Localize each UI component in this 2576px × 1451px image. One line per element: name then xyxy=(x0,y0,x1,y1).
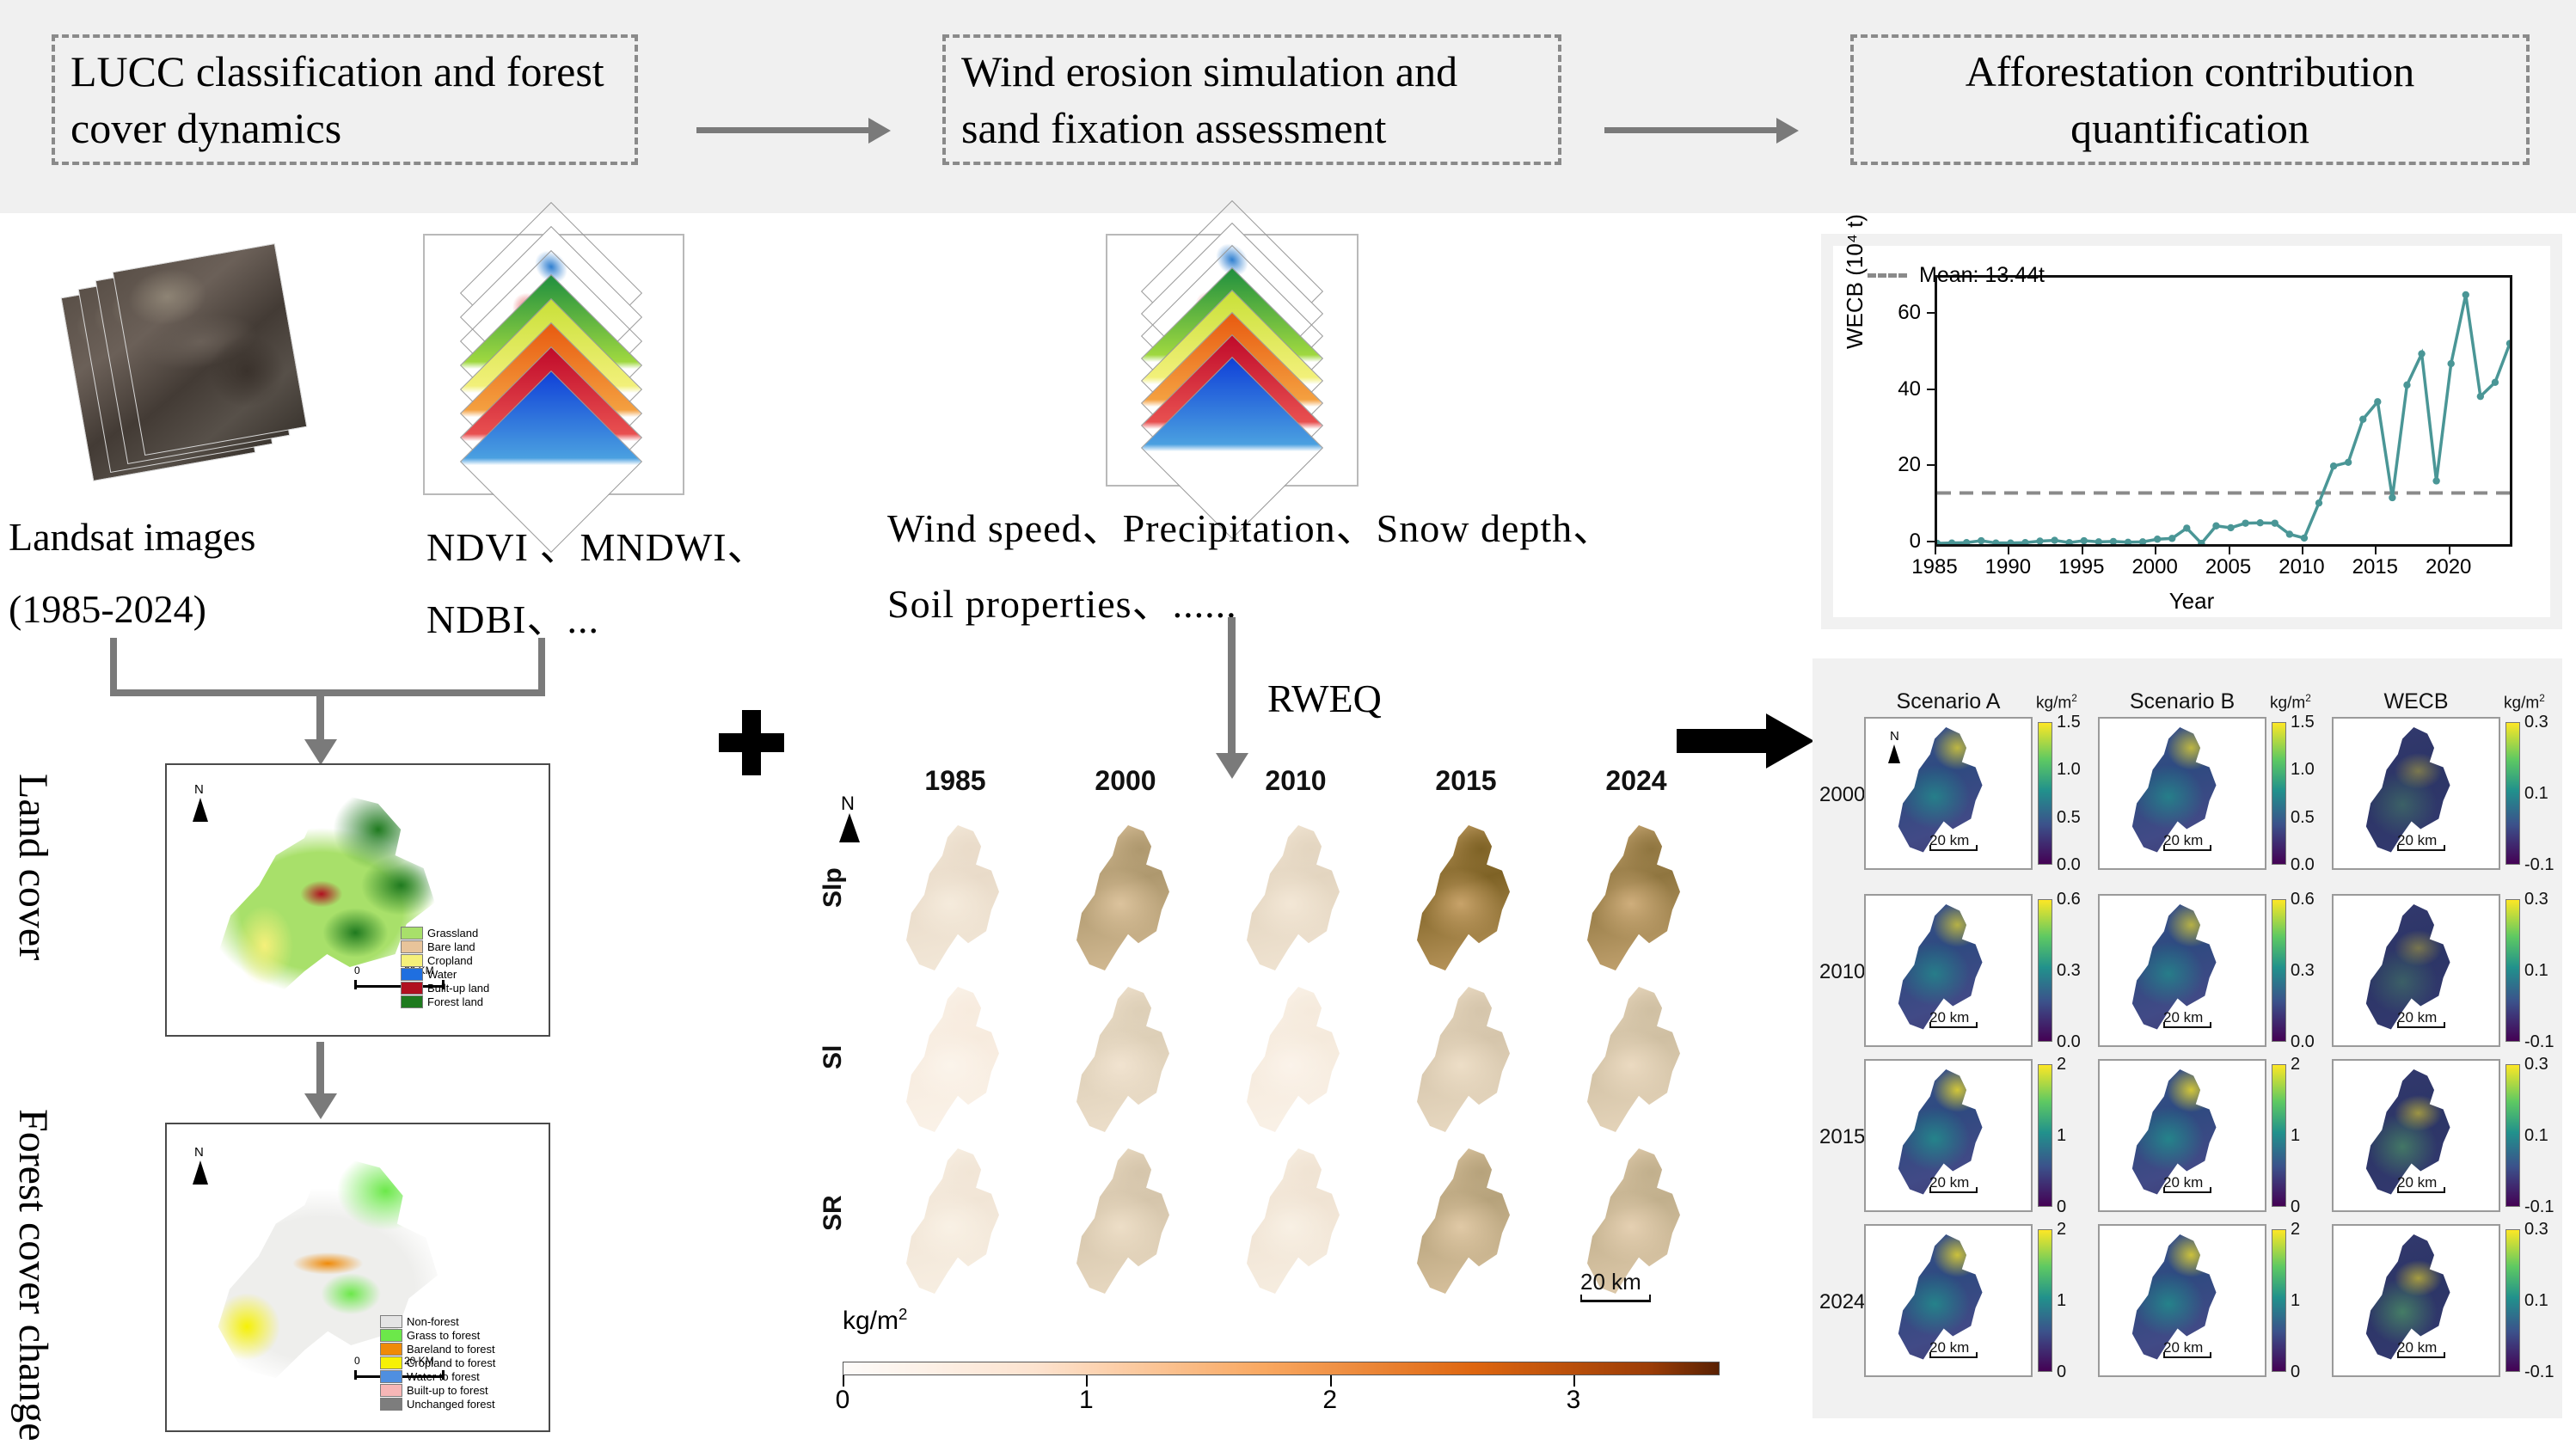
colorbar-tick-label: 0.1 xyxy=(2524,1291,2548,1311)
year-header: 2010 xyxy=(1223,765,1369,797)
colorbar-tick-label: 1 xyxy=(2291,1291,2300,1311)
x-tick-label: 2020 xyxy=(2426,555,2471,579)
legend-label: Water to forest xyxy=(407,1370,480,1383)
colorbar-tick-label: 0 xyxy=(2291,1197,2300,1217)
legend-label: Non-forest xyxy=(407,1315,459,1328)
scenario-map-scenario-a-2000: N20 km xyxy=(1864,717,2033,870)
vertical-colorbar xyxy=(2272,1064,2286,1207)
erosion-map-sl-1985 xyxy=(891,987,1020,1138)
scenario-column-header: WECB xyxy=(2332,689,2500,714)
x-tick-label: 2015 xyxy=(2352,555,2398,579)
forest-change-legend: Non-forestGrass to forestBareland to for… xyxy=(380,1315,495,1411)
spectral-index-layer-stack xyxy=(423,234,684,495)
colorbar-tick-label: 0 xyxy=(836,1386,850,1415)
land-cover-legend: GrasslandBare landCroplandWaterBuilt-up … xyxy=(401,927,489,1009)
scale-bar: 20 km xyxy=(2163,832,2203,849)
scenario-row-label: 2010 xyxy=(1819,960,1865,984)
colorbar-tick-label: 0.6 xyxy=(2291,890,2315,909)
erosion-colorbar: 0123 xyxy=(843,1355,1720,1384)
scenario-column-header: Scenario A xyxy=(1864,689,2033,714)
scale-label: 20 km xyxy=(1929,832,1969,848)
stage-box-wind-erosion: Wind erosion simulation and sand fixatio… xyxy=(942,34,1561,165)
erosion-map-sr-1985 xyxy=(891,1148,1020,1300)
colorbar-tick-label: 1 xyxy=(2057,1291,2066,1311)
colorbar-tick-label: 0.1 xyxy=(2524,1126,2548,1146)
scenario-map-wecb-2024: 20 km xyxy=(2332,1224,2500,1377)
scenario-map-wecb-2015: 20 km xyxy=(2332,1059,2500,1212)
y-tick xyxy=(1927,312,1935,314)
land-cover-title: Land cover xyxy=(9,774,57,960)
stage-box-lucc: LUCC classification and forest cover dyn… xyxy=(52,34,638,165)
erosion-matrix-scale-bar: 20 km xyxy=(1580,1269,1658,1295)
colorbar-tick-label: 0.6 xyxy=(2057,890,2081,909)
vertical-colorbar xyxy=(2038,1064,2052,1207)
mean-line-swatch xyxy=(1868,273,1907,278)
scale-label: 20 km xyxy=(2163,1009,2203,1025)
y-tick-label: 0 xyxy=(1881,530,1921,554)
vertical-colorbar xyxy=(2505,1229,2520,1372)
chart-plot-area xyxy=(1935,275,2512,547)
erosion-map-slp-1985 xyxy=(891,825,1020,977)
scale-bar: 20 km xyxy=(2163,1174,2203,1191)
colorbar-tick-label: 0 xyxy=(2291,1362,2300,1382)
driver-variables-line2: Soil properties、...... xyxy=(887,572,1237,629)
legend-label: Cropland xyxy=(427,954,473,967)
legend-swatch xyxy=(380,1343,402,1356)
vertical-colorbar xyxy=(2038,899,2052,1042)
scale-bar: 20 km xyxy=(1929,1339,1969,1356)
legend-label: Grassland xyxy=(427,927,478,940)
x-tick xyxy=(2449,547,2450,554)
climate-soil-layer-stack xyxy=(1106,234,1359,487)
scale-label: 20 km xyxy=(2397,832,2437,848)
scenario-map-wecb-2000: 20 km xyxy=(2332,717,2500,870)
scenario-map-scenario-a-2024: 20 km xyxy=(1864,1224,2033,1377)
row-header: Sl xyxy=(819,1045,848,1069)
scenario-column-header: Scenario B xyxy=(2098,689,2266,714)
scenario-row-label: 2015 xyxy=(1819,1125,1865,1149)
north-letter: N xyxy=(194,1145,204,1160)
vertical-colorbar xyxy=(2505,899,2520,1042)
erosion-map-sl-2015 xyxy=(1401,987,1530,1138)
indices-label-line2: NDBI、... xyxy=(426,588,599,645)
colorbar-tick-label: 0.3 xyxy=(2524,890,2548,909)
row-header: Slp xyxy=(819,867,848,908)
legend-label: Unchanged forest xyxy=(407,1398,495,1411)
colorbar-tick-label: 0.3 xyxy=(2291,961,2315,981)
year-header: 2015 xyxy=(1393,765,1539,797)
legend-swatch xyxy=(380,1384,402,1397)
scale-label: 20 km xyxy=(2163,1174,2203,1191)
scale-bar: 20 km xyxy=(1929,1009,1969,1026)
year-header: 1985 xyxy=(882,765,1028,797)
y-tick-label: 40 xyxy=(1881,377,1921,401)
scenario-map-scenario-a-2010: 20 km xyxy=(1864,894,2033,1047)
colorbar-tick-label: 0.0 xyxy=(2057,855,2081,875)
erosion-map-sr-2010 xyxy=(1231,1148,1360,1300)
colorbar-tick-label: 0.3 xyxy=(2057,961,2081,981)
scale-bar: 20 km xyxy=(1929,1174,1969,1191)
stage-box-afforestation: Afforestation contribution quantificatio… xyxy=(1850,34,2530,165)
legend-label: Water xyxy=(427,968,457,981)
colorbar-tick-label: 0 xyxy=(2057,1197,2066,1217)
scale-bar: 20 km xyxy=(2397,1009,2437,1026)
wecb-chart-card: WECB (10⁴ t) Year 0204060198519901995200… xyxy=(1833,246,2550,617)
legend-item: Bareland to forest xyxy=(380,1343,495,1356)
colorbar-tick-label: -0.1 xyxy=(2524,1362,2554,1382)
scenario-map-scenario-b-2015: 20 km xyxy=(2098,1059,2266,1212)
colorbar-unit: kg/m2 xyxy=(2504,693,2545,713)
scale-label: 20 km xyxy=(2397,1009,2437,1025)
erosion-colorbar-unit: kg/m2 xyxy=(843,1305,907,1336)
scenario-row-label: 2024 xyxy=(1819,1290,1865,1314)
x-tick-label: 2000 xyxy=(2131,555,2177,579)
forest-cover-change-title: Forest cover change xyxy=(9,1109,57,1442)
year-header: 2000 xyxy=(1052,765,1199,797)
scale-bar: 20 km xyxy=(2163,1009,2203,1026)
legend-swatch xyxy=(401,940,423,953)
scenario-comparison-panel: Scenario Akg/m2Scenario Bkg/m2WECBkg/m2 … xyxy=(1812,658,2562,1418)
scenario-map-wecb-2010: 20 km xyxy=(2332,894,2500,1047)
chart-line-series xyxy=(1937,278,2510,544)
scenario-row-label: 2000 xyxy=(1819,783,1865,807)
legend-swatch xyxy=(380,1370,402,1383)
colorbar-tick-label: 0.3 xyxy=(2524,1055,2548,1074)
y-tick xyxy=(1927,464,1935,466)
legend-item: Cropland to forest xyxy=(380,1356,495,1369)
legend-swatch xyxy=(380,1315,402,1328)
vertical-colorbar xyxy=(2272,1229,2286,1372)
chart-y-axis-label: WECB (10⁴ t) xyxy=(1842,214,1868,349)
scale-label: 20 km xyxy=(1580,1269,1641,1295)
x-tick xyxy=(2302,547,2303,554)
legend-item: Grassland xyxy=(401,927,489,940)
landsat-label: Landsat images xyxy=(9,514,255,560)
scale-label: 20 km xyxy=(2163,1339,2203,1356)
colorbar-tick-label: 1.0 xyxy=(2057,760,2081,780)
x-tick-label: 1990 xyxy=(1985,555,2031,579)
scale-bar: 20 km xyxy=(2397,1174,2437,1191)
landsat-period-label: (1985-2024) xyxy=(9,586,206,632)
scale-label: 20 km xyxy=(1929,1009,1969,1025)
legend-label: Bareland to forest xyxy=(407,1343,495,1356)
colorbar-tick-label: -0.1 xyxy=(2524,1032,2554,1052)
legend-swatch xyxy=(401,927,423,940)
colorbar-tick-label: 2 xyxy=(2057,1220,2066,1240)
x-tick-label: 2005 xyxy=(2205,555,2251,579)
x-tick xyxy=(2008,547,2009,554)
colorbar-tick-label: 0 xyxy=(2057,1362,2066,1382)
scenario-map-scenario-b-2010: 20 km xyxy=(2098,894,2266,1047)
year-header: 2024 xyxy=(1563,765,1709,797)
colorbar-tick-label: -0.1 xyxy=(2524,855,2554,875)
colorbar-tick-label: 0.3 xyxy=(2524,1220,2548,1240)
scale-bar: 20 km xyxy=(2163,1339,2203,1356)
erosion-map-slp-2010 xyxy=(1231,825,1360,977)
arrow-to-results-icon xyxy=(1677,713,1814,768)
scenario-map-scenario-a-2015: 20 km xyxy=(1864,1059,2033,1212)
colorbar-unit: kg/m2 xyxy=(2036,693,2077,713)
legend-swatch xyxy=(401,954,423,967)
erosion-map-slp-2000 xyxy=(1061,825,1190,977)
forest-cover-change-map: N 0 20 KM Non-forestGrass to forestBarel… xyxy=(165,1123,550,1432)
x-tick xyxy=(1935,547,1936,554)
colorbar-tick-label: 1.0 xyxy=(2291,760,2315,780)
y-tick-label: 60 xyxy=(1881,301,1921,325)
colorbar-tick-label: 0.0 xyxy=(2057,1032,2081,1052)
colorbar-tick-label: 3 xyxy=(1567,1386,1581,1415)
erosion-map-slp-2015 xyxy=(1401,825,1530,977)
y-tick-label: 20 xyxy=(1881,453,1921,477)
rweq-model-label: RWEQ xyxy=(1267,676,1382,721)
colorbar-tick-label: 1 xyxy=(2057,1126,2066,1146)
colorbar-tick-label: 1.5 xyxy=(2057,713,2081,732)
x-tick xyxy=(2229,547,2230,554)
chart-x-axis-label: Year xyxy=(1833,588,2550,615)
chart-legend: Mean: 13.44t xyxy=(1868,263,2045,288)
legend-label: Grass to forest xyxy=(407,1329,480,1342)
scale-label: 20 km xyxy=(1929,1339,1969,1356)
erosion-map-sr-2000 xyxy=(1061,1148,1190,1300)
erosion-map-sr-2015 xyxy=(1401,1148,1530,1300)
legend-item: Water to forest xyxy=(380,1370,495,1383)
erosion-map-sl-2000 xyxy=(1061,987,1190,1138)
legend-item: Non-forest xyxy=(380,1315,495,1328)
colorbar-unit: kg/m2 xyxy=(2270,693,2311,713)
vertical-colorbar xyxy=(2505,1064,2520,1207)
x-tick-label: 1995 xyxy=(2058,555,2104,579)
legend-label: Forest land xyxy=(427,995,483,1008)
colorbar-tick-label: 1 xyxy=(2291,1126,2300,1146)
legend-item: Built-up land xyxy=(401,982,489,995)
y-tick xyxy=(1927,541,1935,542)
scenario-map-scenario-b-2024: 20 km xyxy=(2098,1224,2266,1377)
legend-item: Cropland xyxy=(401,954,489,967)
erosion-map-sl-2024 xyxy=(1572,987,1701,1138)
north-letter: N xyxy=(841,793,855,815)
scale-zero: 0 xyxy=(354,1355,360,1367)
scale-label: 20 km xyxy=(2163,832,2203,848)
x-tick xyxy=(2375,547,2377,554)
colorbar-tick-label: 0.3 xyxy=(2524,713,2548,732)
legend-item: Water xyxy=(401,968,489,981)
indices-label-line1: NDVI 、MNDWI、 xyxy=(426,516,768,572)
legend-swatch xyxy=(401,995,423,1008)
colorbar-tick-label: 2 xyxy=(2057,1055,2066,1074)
colorbar-tick-label: 0.1 xyxy=(2524,961,2548,981)
y-tick xyxy=(1927,389,1935,390)
land-cover-map: N 0 20 KM GrasslandBare landCroplandWate… xyxy=(165,763,550,1037)
erosion-map-sl-2010 xyxy=(1231,987,1360,1138)
north-letter: N xyxy=(1890,729,1899,744)
colorbar-tick-label: 2 xyxy=(2291,1220,2300,1240)
erosion-map-slp-2024 xyxy=(1572,825,1701,977)
scale-bar: 20 km xyxy=(2397,1339,2437,1356)
x-tick xyxy=(2082,547,2083,554)
colorbar-tick-label: 0.5 xyxy=(2291,808,2315,828)
vertical-colorbar xyxy=(2272,899,2286,1042)
driver-variables-line1: Wind speed、Precipitation、Snow depth、 xyxy=(887,497,1613,554)
legend-swatch xyxy=(401,982,423,995)
legend-swatch xyxy=(380,1329,402,1342)
vertical-colorbar xyxy=(2272,722,2286,865)
colorbar-tick-label: 2 xyxy=(1322,1386,1337,1415)
merge-bracket xyxy=(110,638,545,696)
colorbar-tick-label: 0.0 xyxy=(2291,855,2315,875)
legend-item: Grass to forest xyxy=(380,1329,495,1342)
legend-label: Built-up land xyxy=(427,982,489,995)
colorbar-tick-label: 0.0 xyxy=(2291,1032,2315,1052)
landsat-image-stack xyxy=(60,242,301,474)
legend-item: Forest land xyxy=(401,995,489,1008)
colorbar-tick-label: 2 xyxy=(2291,1055,2300,1074)
scale-bar: 20 km xyxy=(2397,832,2437,849)
legend-item: Bare land xyxy=(401,940,489,953)
vertical-colorbar xyxy=(2038,1229,2052,1372)
legend-swatch xyxy=(380,1356,402,1369)
x-tick xyxy=(2155,547,2156,554)
legend-item: Unchanged forest xyxy=(380,1398,495,1411)
colorbar-tick-label: 0.1 xyxy=(2524,784,2548,804)
wecb-timeseries-panel: WECB (10⁴ t) Year 0204060198519901995200… xyxy=(1821,234,2562,629)
vertical-colorbar xyxy=(2038,722,2052,865)
legend-item: Built-up to forest xyxy=(380,1384,495,1397)
colorbar-tick-label: -0.1 xyxy=(2524,1197,2554,1217)
row-header: SR xyxy=(819,1195,848,1231)
north-letter: N xyxy=(194,782,204,797)
scale-bar: 20 km xyxy=(1929,832,1969,849)
scenario-map-scenario-b-2000: 20 km xyxy=(2098,717,2266,870)
x-tick-label: 1985 xyxy=(1911,555,1957,579)
scale-label: 20 km xyxy=(2397,1174,2437,1191)
colorbar-tick-label: 1.5 xyxy=(2291,713,2315,732)
vertical-colorbar xyxy=(2505,722,2520,865)
legend-swatch xyxy=(380,1398,402,1411)
scale-zero: 0 xyxy=(354,964,360,977)
plus-icon xyxy=(719,710,784,775)
legend-label: Cropland to forest xyxy=(407,1356,495,1369)
scale-label: 20 km xyxy=(1929,1174,1969,1191)
legend-swatch xyxy=(401,968,423,981)
colorbar-tick-label: 0.5 xyxy=(2057,808,2081,828)
mean-legend-label: Mean: 13.44t xyxy=(1919,263,2045,288)
legend-label: Bare land xyxy=(427,940,475,953)
colorbar-tick-label: 1 xyxy=(1079,1386,1094,1415)
x-tick-label: 2010 xyxy=(2279,555,2324,579)
legend-label: Built-up to forest xyxy=(407,1384,488,1397)
scale-label: 20 km xyxy=(2397,1339,2437,1356)
